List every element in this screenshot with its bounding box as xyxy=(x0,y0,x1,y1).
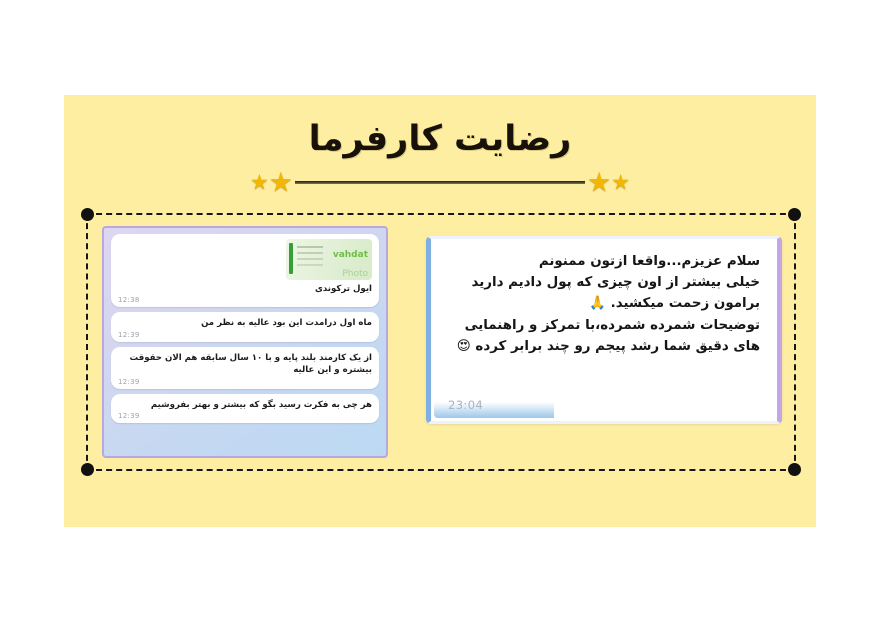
chat-message-text: هر چی به فکرت رسید بگو که بیشتر و بهتر ب… xyxy=(118,399,372,411)
star-icon: ★ xyxy=(269,169,293,196)
testimonial-line: خیلی بیشتر از اون چیزی که پول دادیم داری… xyxy=(448,272,760,293)
photo-accent-bar xyxy=(289,243,293,274)
chat-message-text: از یک کارمند بلند پایه و با ۱۰ سال سابقه… xyxy=(118,352,372,377)
corner-dot-bottom-right xyxy=(788,463,801,476)
chat-message-text: ماه اول درامدت این بود عالیه به نظر من xyxy=(118,317,372,329)
photo-content-lines xyxy=(297,246,323,272)
photo-preview-subtitle: Photo xyxy=(342,269,368,279)
photo-preview-thumbnail: vahdat Photo xyxy=(286,239,372,280)
slide-card: رضایت کارفرما ★ ★ ★ ★ xyxy=(64,95,816,527)
chat-message-bubble: از یک کارمند بلند پایه و با ۱۰ سال سابقه… xyxy=(111,347,379,389)
testimonial-line: های دقیق شما رشد پیجم رو چند برابر کرده … xyxy=(448,336,760,357)
photo-preview-name: vahdat xyxy=(333,250,368,260)
page-title: رضایت کارفرما xyxy=(64,119,816,159)
title-block: رضایت کارفرما xyxy=(64,119,816,159)
title-divider: ★ ★ ★ ★ xyxy=(64,167,816,197)
testimonial-line: برامون زحمت میکشید. 🙏 xyxy=(448,293,760,314)
star-icon: ★ xyxy=(250,172,269,193)
testimonial-line: سلام عزیزم...واقعا ازتون ممنونم xyxy=(448,251,760,272)
chat-message-bubble: هر چی به فکرت رسید بگو که بیشتر و بهتر ب… xyxy=(111,394,379,423)
star-icon: ★ xyxy=(611,172,630,193)
corner-dot-top-left xyxy=(81,208,94,221)
chat-screenshot: vahdat Photo ایول ترکوندی 12:38 ماه اول … xyxy=(102,226,388,458)
testimonial-line: توضیحات شمرده شمرده،با تمرکز و راهنمایی xyxy=(448,315,760,336)
corner-dot-top-right xyxy=(788,208,801,221)
chat-message-list: vahdat Photo ایول ترکوندی 12:38 ماه اول … xyxy=(111,234,379,423)
chat-message-time: 12:38 xyxy=(118,296,372,304)
chat-message-bubble: ماه اول درامدت این بود عالیه به نظر من 1… xyxy=(111,312,379,341)
corner-dot-bottom-left xyxy=(81,463,94,476)
chat-message-time: 12:39 xyxy=(118,378,372,386)
testimonial-message-bubble: سلام عزیزم...واقعا ازتون ممنونم خیلی بیش… xyxy=(434,242,774,418)
star-group-left: ★ ★ xyxy=(250,169,293,196)
testimonial-screenshot: سلام عزیزم...واقعا ازتون ممنونم خیلی بیش… xyxy=(426,236,782,424)
photo-preview-label: vahdat Photo xyxy=(333,242,368,280)
wave-accent xyxy=(434,402,554,418)
chat-message-text: ایول ترکوندی xyxy=(118,283,372,295)
chat-message-time: 12:39 xyxy=(118,331,372,339)
chat-message-time: 12:39 xyxy=(118,412,372,420)
chat-message-bubble: vahdat Photo ایول ترکوندی 12:38 xyxy=(111,234,379,307)
star-group-right: ★ ★ xyxy=(587,169,630,196)
testimonial-panels: vahdat Photo ایول ترکوندی 12:38 ماه اول … xyxy=(102,226,782,458)
star-icon: ★ xyxy=(587,169,611,196)
divider-line xyxy=(295,181,585,184)
